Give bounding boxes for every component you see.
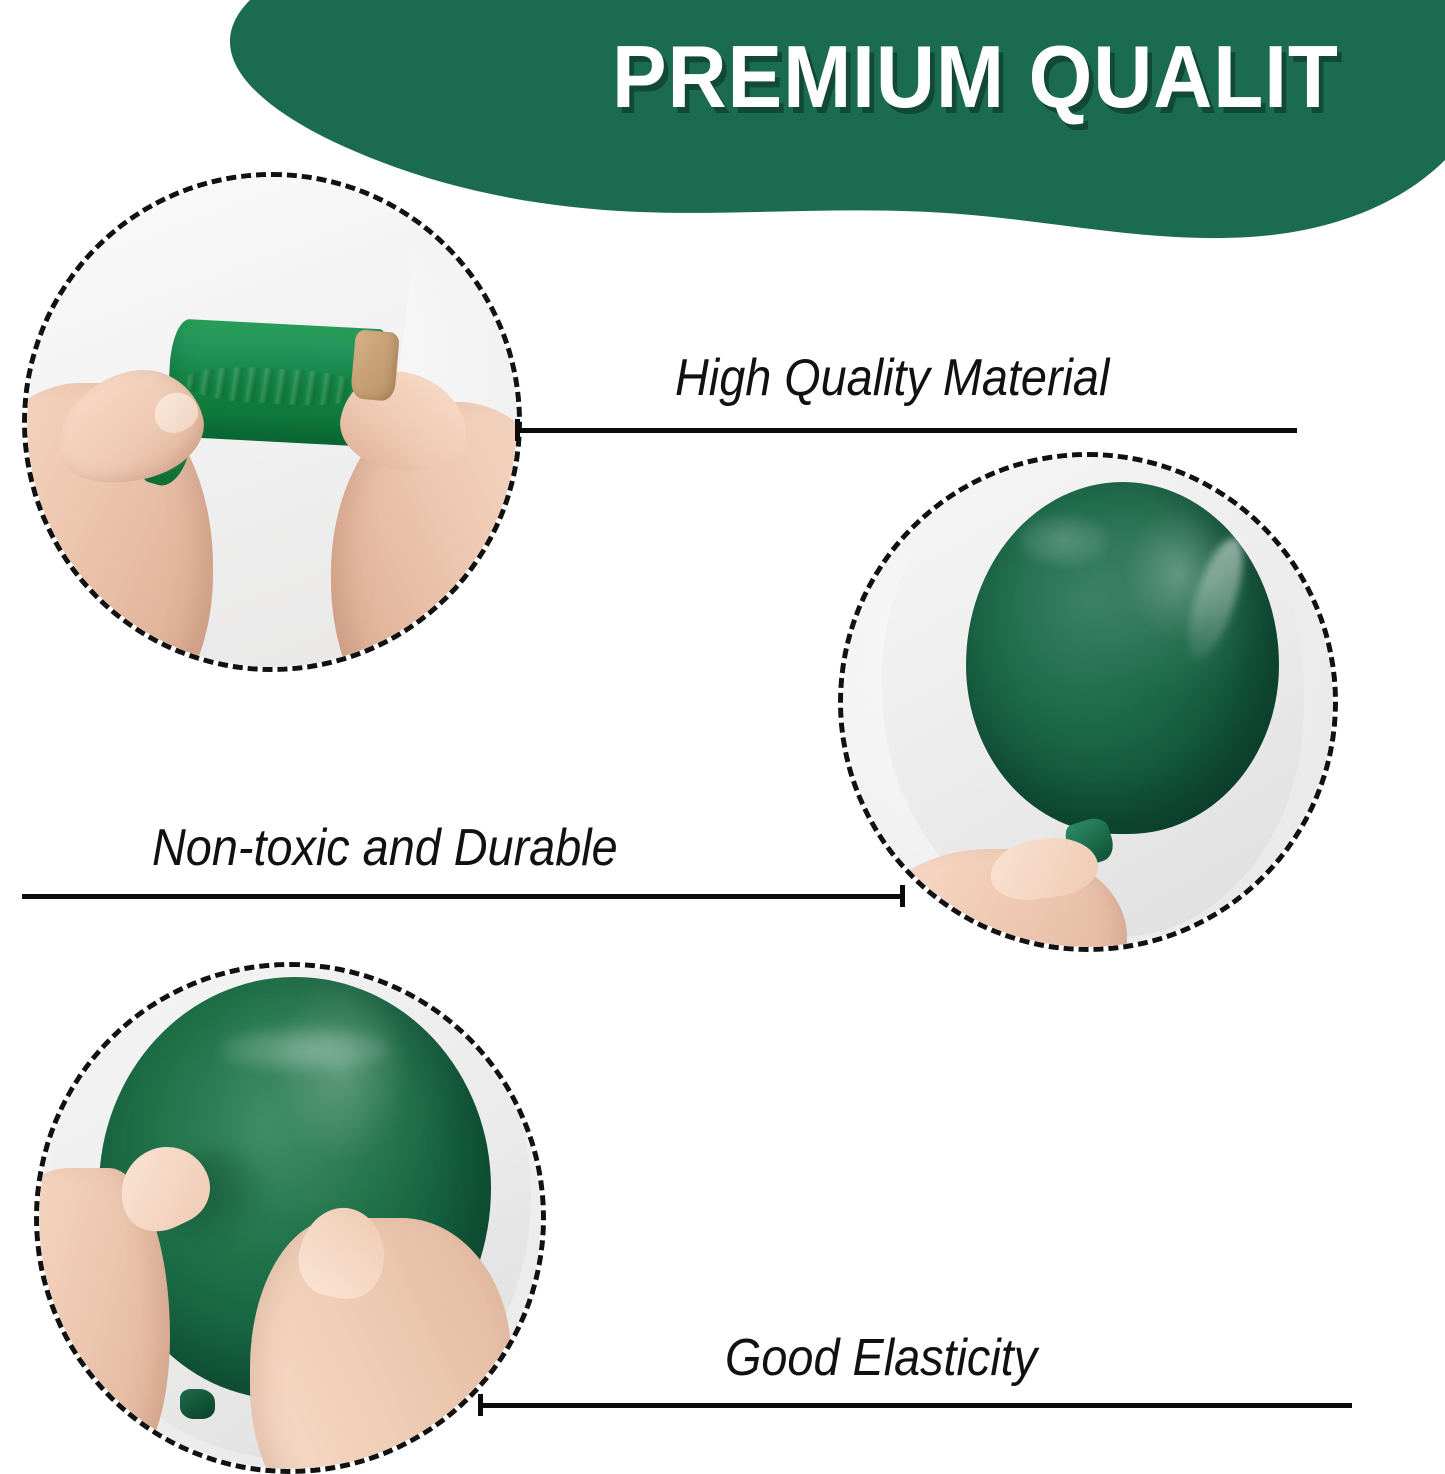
- callout-leader-line: [478, 1403, 1352, 1408]
- feature-photo-non-toxic-and-durable: [838, 452, 1338, 952]
- photo-squeeze-balloon: [39, 967, 541, 1469]
- callout-leader-line: [515, 428, 1297, 433]
- feature-label-material: High Quality Material: [675, 348, 1109, 408]
- photo-stretch-balloon: [27, 177, 517, 667]
- green-balloon: [966, 482, 1280, 835]
- feature-label-nontoxic: Non-toxic and Durable: [152, 818, 618, 878]
- feature-label-elasticity: Good Elasticity: [725, 1328, 1037, 1388]
- callout-leader-line: [22, 894, 905, 899]
- balloon-highlight-top: [1019, 516, 1107, 565]
- feature-photo-good-elasticity: [34, 962, 546, 1474]
- bandage-icon: [350, 330, 400, 402]
- balloon-knot: [180, 1389, 215, 1419]
- page-title: PREMIUM QUALIT: [612, 24, 1412, 129]
- feature-photo-high-quality-material: [22, 172, 522, 672]
- photo-inflated-balloon: [843, 457, 1333, 947]
